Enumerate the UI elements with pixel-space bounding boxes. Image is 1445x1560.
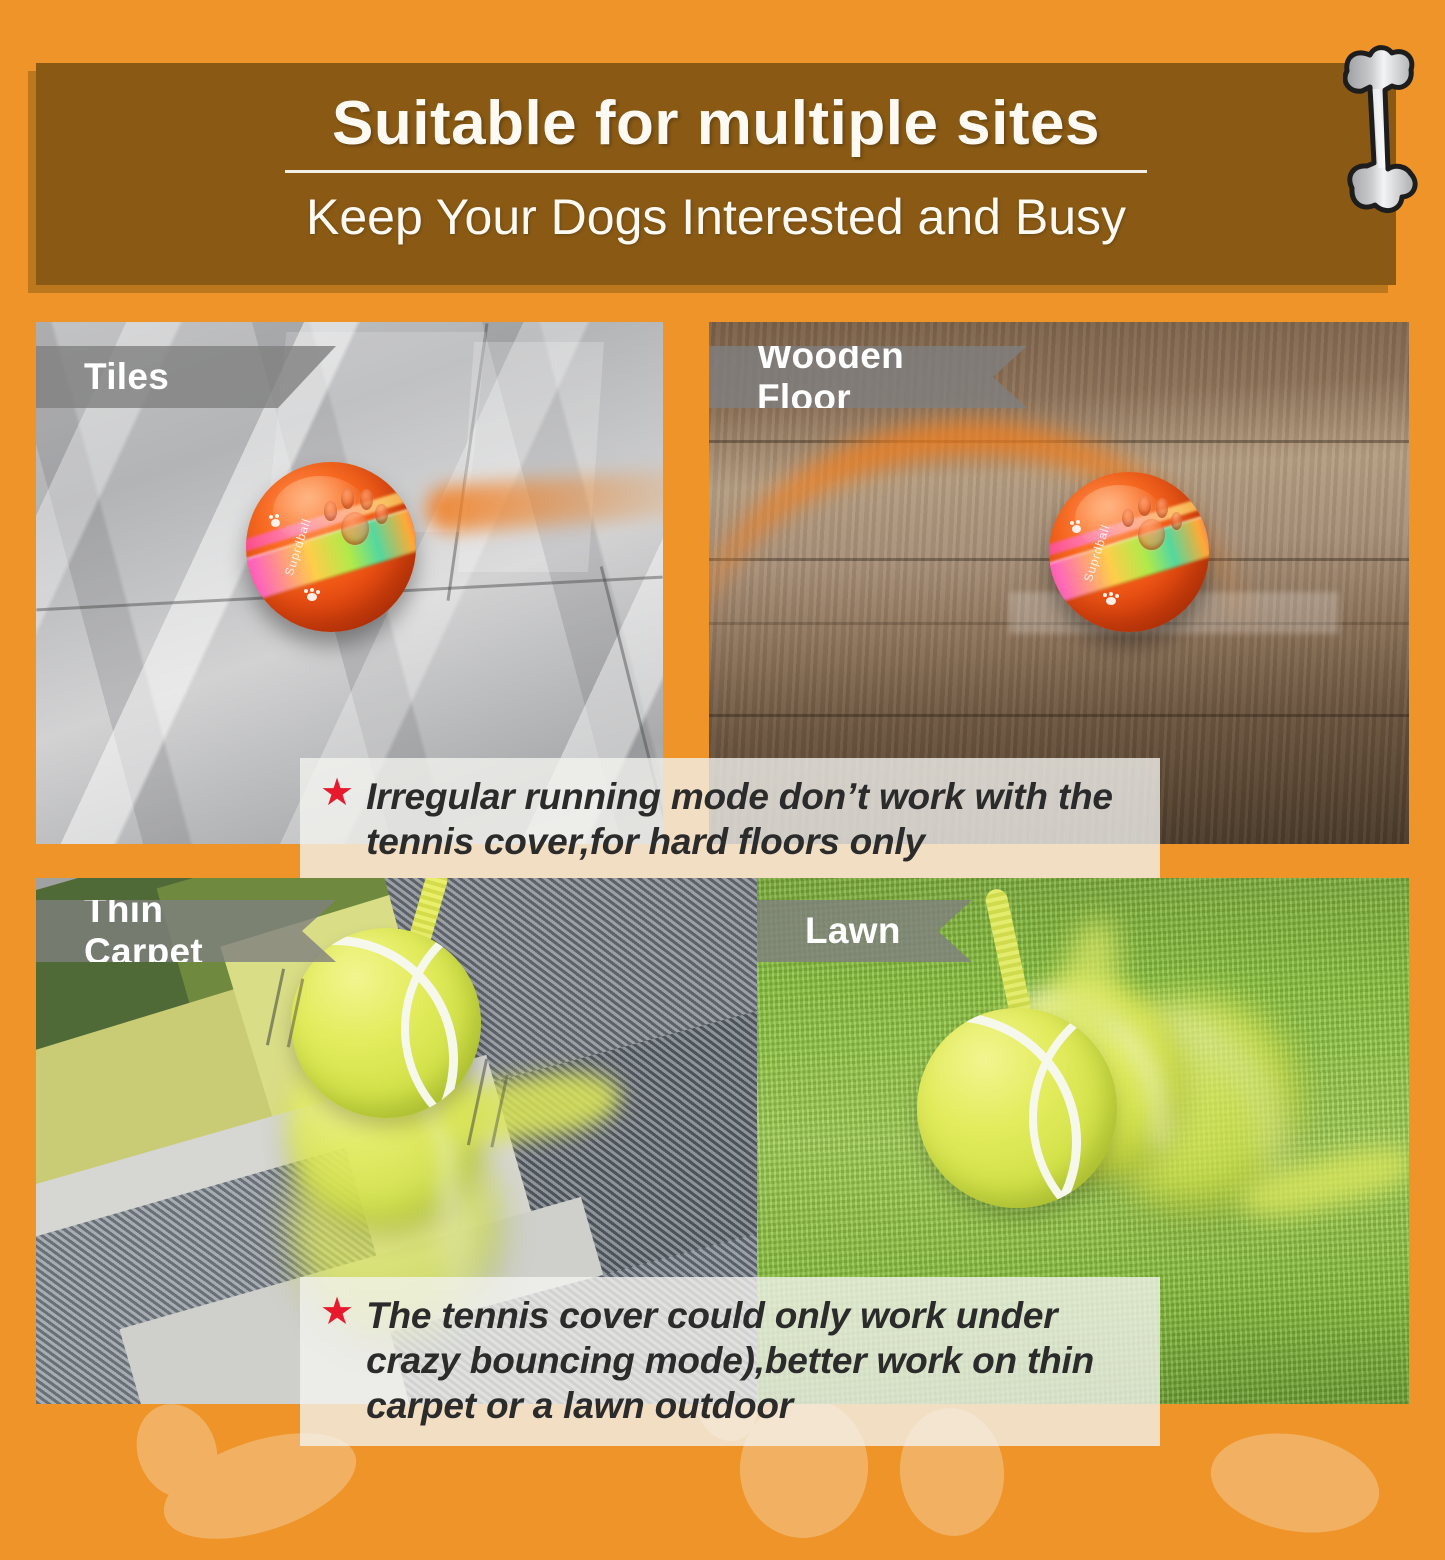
ribbon-label-wooden-floor: Wooden Floor — [709, 346, 1027, 408]
paw-emboss-icon — [1115, 488, 1189, 558]
title-divider — [285, 170, 1147, 173]
panel-label-wooden-floor: Wooden Floor — [757, 335, 975, 419]
panel-label-tiles: Tiles — [84, 356, 169, 398]
caption-tennis-cover-note: ★ The tennis cover could only work under… — [300, 1277, 1160, 1446]
caption-text: Irregular running mode don’t work with t… — [366, 774, 1136, 864]
mini-paw-icon — [1069, 520, 1085, 534]
page-title: Suitable for multiple sites — [36, 91, 1396, 156]
caption-text: The tennis cover could only work under c… — [366, 1293, 1136, 1428]
tile-highlight — [458, 342, 604, 572]
panel-label-lawn: Lawn — [805, 910, 901, 952]
mini-paw-icon — [304, 588, 320, 602]
star-icon: ★ — [320, 1293, 354, 1333]
smart-ball-product: Suprdball — [1049, 472, 1209, 632]
plank-seam — [709, 714, 1409, 717]
mini-paw-icon — [1103, 592, 1119, 606]
smart-ball-product: Suprdball — [246, 462, 416, 632]
mini-paw-icon — [268, 514, 284, 528]
star-icon: ★ — [320, 774, 354, 814]
plank-seam — [709, 440, 1409, 443]
panel-label-thin-carpet: Thin Carpet — [84, 889, 284, 973]
paw-emboss-icon — [316, 479, 394, 554]
header-banner: Suitable for multiple sites Keep Your Do… — [36, 63, 1396, 285]
bone-icon — [1343, 33, 1421, 223]
caption-hard-floor-note: ★ Irregular running mode don’t work with… — [300, 758, 1160, 882]
paw-watermark-right — [1190, 1405, 1440, 1515]
tennis-ball-product — [917, 1008, 1117, 1208]
ribbon-label-thin-carpet: Thin Carpet — [36, 900, 336, 962]
page-subtitle: Keep Your Dogs Interested and Busy — [36, 191, 1396, 244]
